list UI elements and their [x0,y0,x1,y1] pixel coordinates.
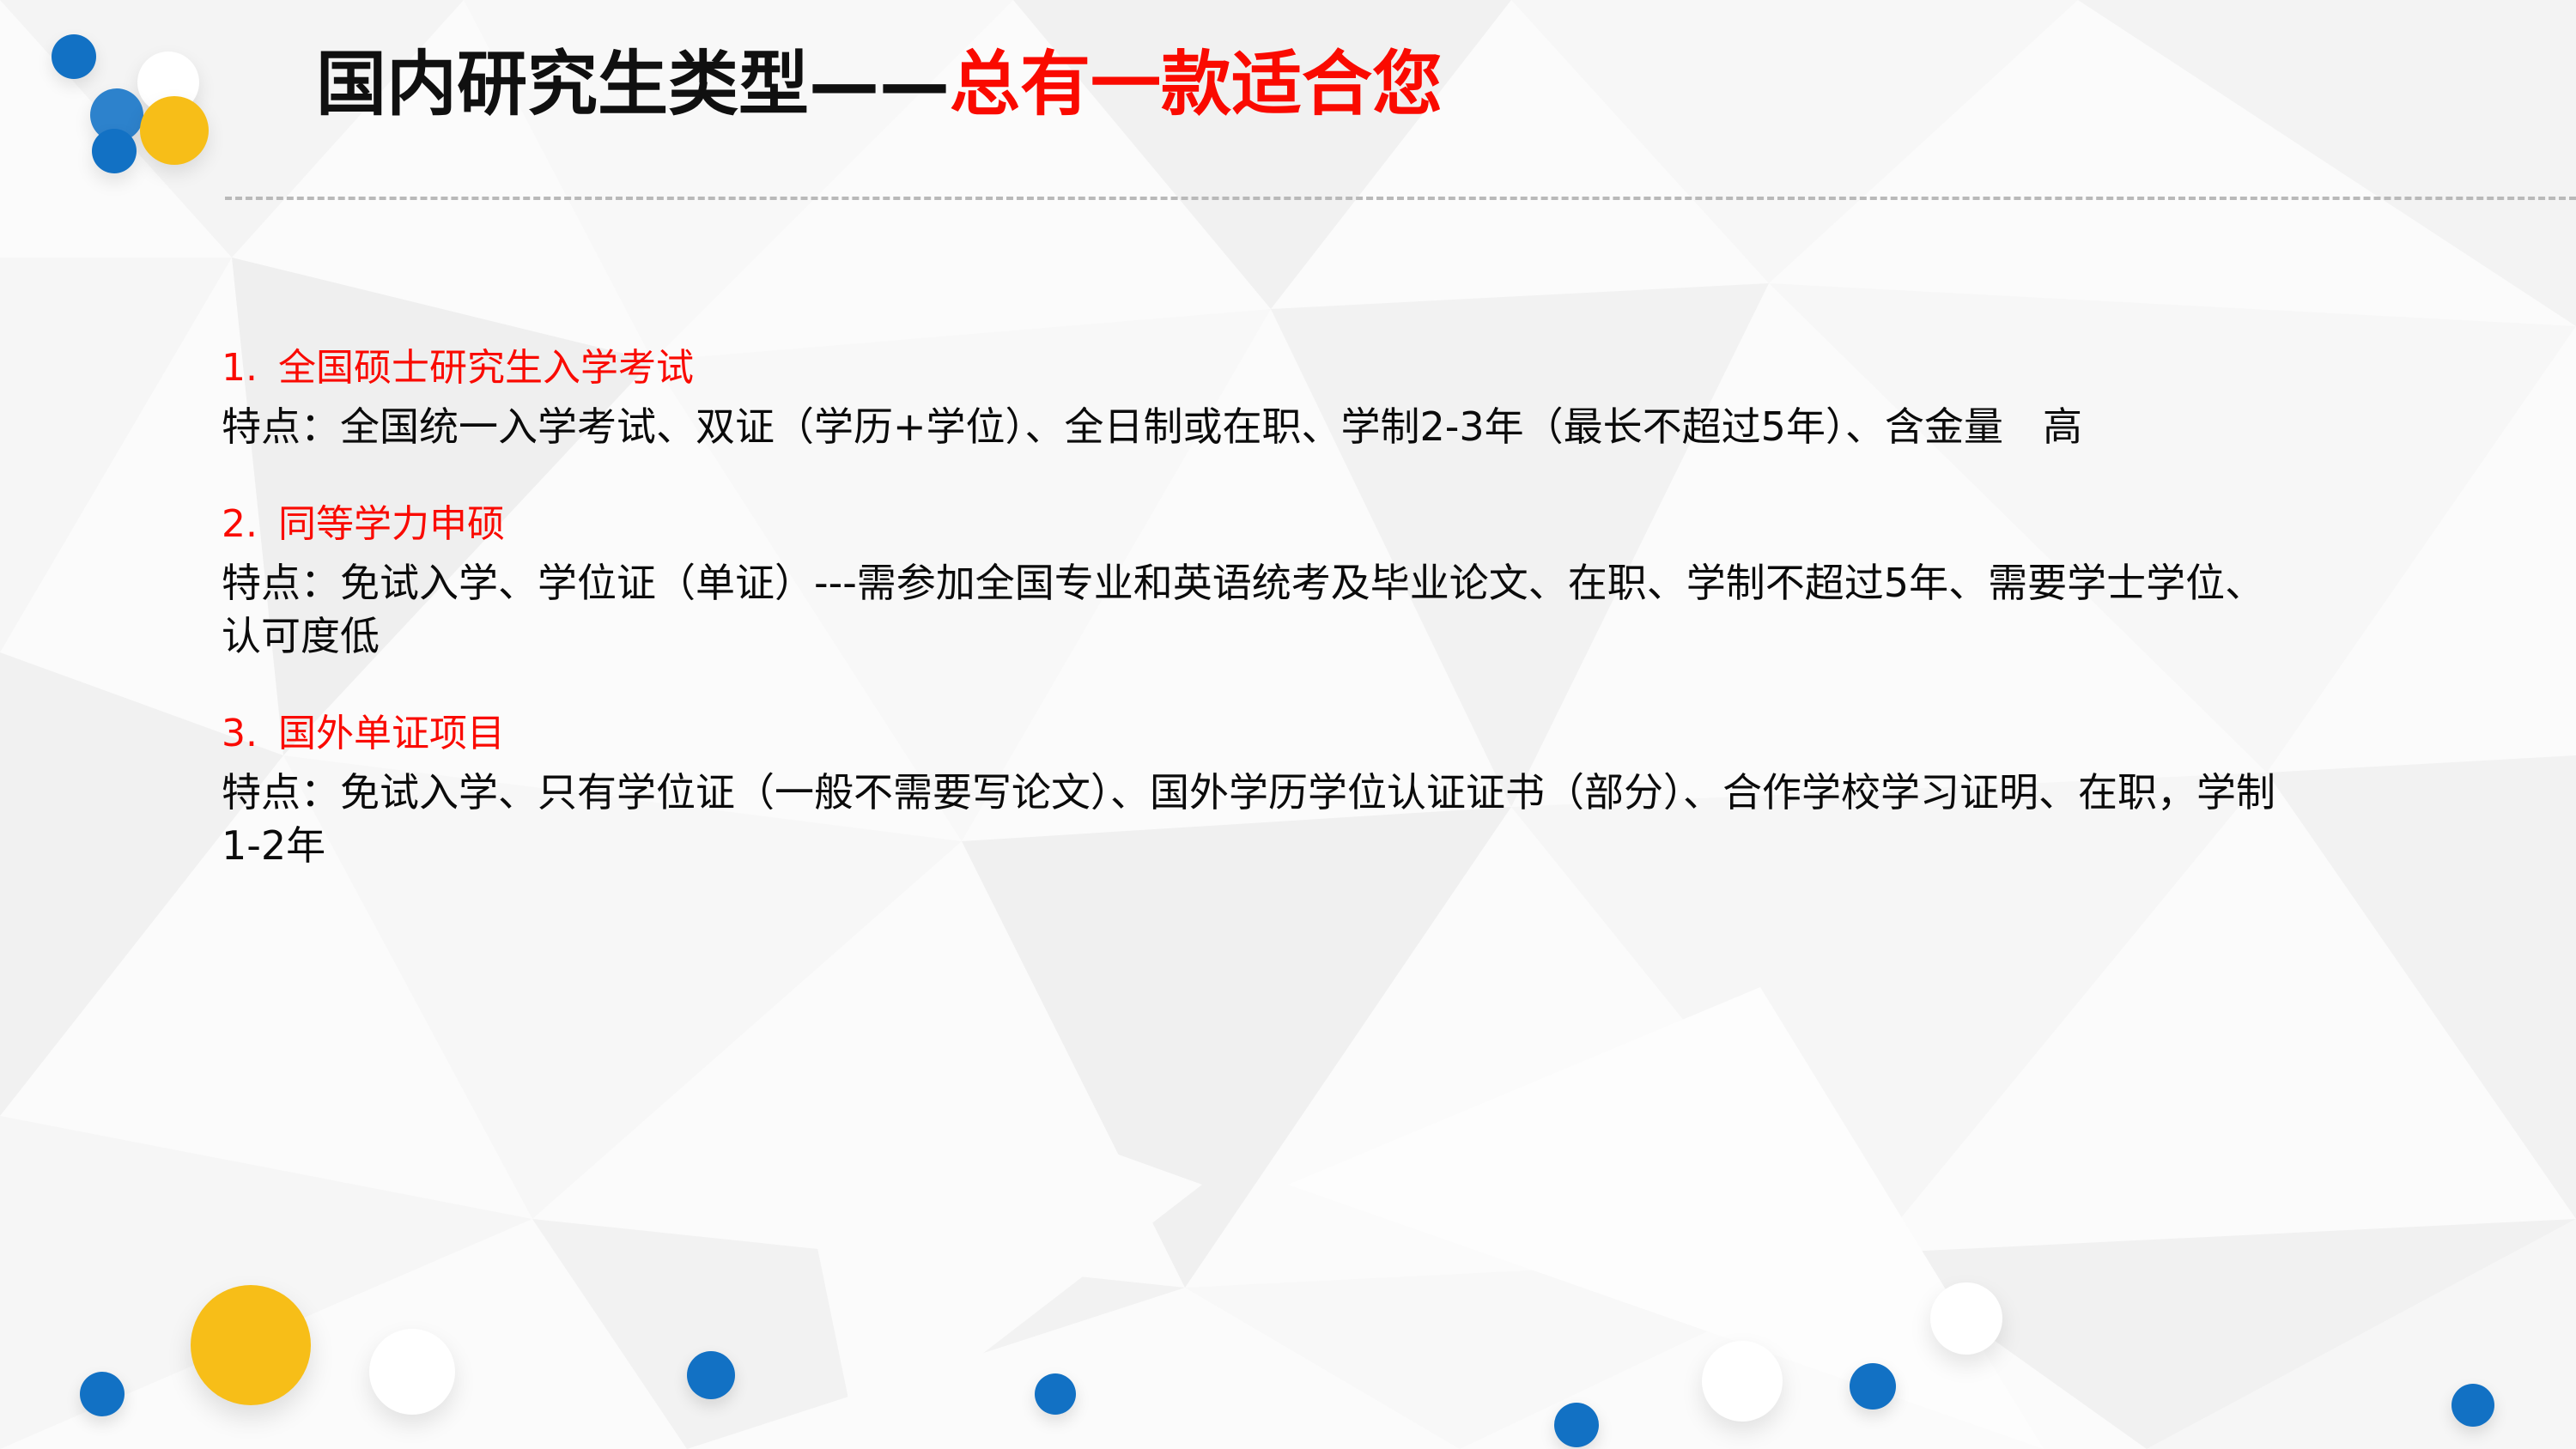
section-body-text: 特点：免试入学、学位证（单证）---需参加全国专业和英语统考及毕业论文、在职、学… [222,556,2300,663]
decor-circle-gold-bottom [191,1285,311,1405]
decor-circle-blue-bottom-4 [1554,1403,1599,1447]
title-divider [225,197,2576,200]
section-item: 3.国外单证项目 特点：免试入学、只有学位证（一般不需要写论文）、国外学历学位认… [222,707,2368,872]
decor-circle-white-bottom-3 [1930,1282,2002,1355]
section-body-text: 特点：全国统一入学考试、双证（学历+学位）、全日制或在职、学制2-3年（最长不超… [222,400,2300,453]
section-heading-label: 全国硕士研究生入学考试 [278,346,694,390]
decor-circle-white-bottom-1 [369,1329,455,1415]
decor-circle-blue-bottom-1 [80,1372,125,1416]
decor-circle-blue-bottom-3 [1035,1373,1076,1415]
section-heading: 3.国外单证项目 [222,707,2368,761]
decor-circle-blue-bottom-2 [687,1351,735,1399]
slide-body: 1.全国硕士研究生入学考试 特点：全国统一入学考试、双证（学历+学位）、全日制或… [222,342,2368,872]
decor-circle-white-bottom-2 [1702,1341,1783,1422]
slide-header: 国内研究生类型——总有一款适合您 [0,26,2576,146]
section-heading: 2.同等学力申硕 [222,498,2368,551]
page-title-primary: 国内研究生类型—— [316,44,950,125]
presentation-slide: 国内研究生类型——总有一款适合您 1.全国硕士研究生入学考试 特点：全国统一入学… [0,0,2576,1449]
decor-circle-blue-bottom-6 [2451,1384,2494,1427]
decor-circle-blue-bottom-5 [1850,1363,1896,1410]
section-heading-label: 同等学力申硕 [278,502,505,546]
section-number: 2. [222,498,278,551]
section-heading: 1.全国硕士研究生入学考试 [222,342,2368,395]
section-body-text: 特点：免试入学、只有学位证（一般不需要写论文）、国外学历学位认证证书（部分）、合… [222,766,2300,872]
page-title-accent: 总有一款适合您 [950,44,1443,125]
page-title: 国内研究生类型——总有一款适合您 [316,48,1443,122]
section-item: 2.同等学力申硕 特点：免试入学、学位证（单证）---需参加全国专业和英语统考及… [222,498,2368,663]
section-item: 1.全国硕士研究生入学考试 特点：全国统一入学考试、双证（学历+学位）、全日制或… [222,342,2368,453]
section-number: 3. [222,707,278,761]
section-heading-label: 国外单证项目 [278,712,505,755]
section-number: 1. [222,342,278,395]
